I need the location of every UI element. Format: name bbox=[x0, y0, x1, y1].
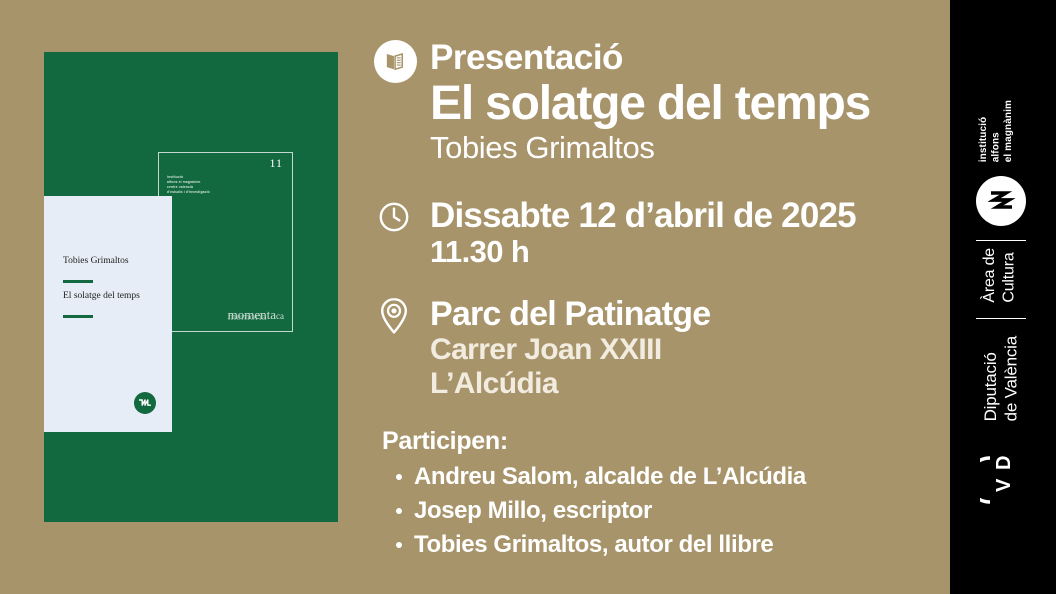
area-de-cultura-label: Àrea de Cultura bbox=[980, 248, 1019, 303]
book-panel-rule-top bbox=[63, 280, 93, 283]
list-item: Josep Millo, escriptor bbox=[382, 494, 934, 528]
presentation-icon-slot bbox=[374, 40, 430, 83]
poster-canvas: 11 institució alfons el magnànim centre … bbox=[0, 0, 1056, 594]
sponsor-sidebar: institució alfons el magnànim Àrea de Cu… bbox=[950, 0, 1056, 594]
diputacio-dv-logo: D V bbox=[980, 452, 1028, 514]
book-cover-background: 11 institució alfons el magnànim centre … bbox=[44, 52, 338, 522]
clock-icon bbox=[374, 197, 414, 237]
book-panel-title: El solatge del temps bbox=[63, 291, 140, 301]
participants-block: Participen: Andreu Salom, alcalde de L’A… bbox=[374, 427, 934, 562]
collection-logo-suffix: ca bbox=[276, 311, 284, 321]
publisher-logo-icon bbox=[134, 392, 156, 414]
event-town: L’Alcúdia bbox=[430, 367, 934, 401]
date-block: Dissabte 12 d’abril de 2025 11.30 h bbox=[374, 197, 934, 270]
book-panel-author: Tobies Grimaltos bbox=[63, 256, 129, 266]
participants-list: Andreu Salom, alcalde de L’Alcúdia Josep… bbox=[382, 460, 934, 562]
svg-text:V: V bbox=[993, 478, 1015, 492]
diputacio-label: Diputació de València bbox=[981, 336, 1022, 421]
magnanim-name: institució alfons el magnànim bbox=[978, 100, 1016, 162]
list-item: Andreu Salom, alcalde de L’Alcúdia bbox=[382, 460, 934, 494]
date-icon-slot bbox=[374, 197, 430, 237]
open-book-icon bbox=[374, 40, 417, 83]
book-collection-logo: momentaca memòria bbox=[228, 308, 284, 321]
magnanim-zigzag-logo bbox=[976, 176, 1026, 226]
book-title-panel: Tobies Grimaltos El solatge del temps bbox=[44, 196, 172, 432]
presentation-block: Presentació El solatge del temps Tobies … bbox=[374, 40, 934, 165]
presentation-text: Presentació El solatge del temps Tobies … bbox=[430, 40, 934, 165]
place-text: Parc del Patinatge Carrer Joan XXIII L’A… bbox=[430, 296, 934, 401]
book-cover-image: 11 institució alfons el magnànim centre … bbox=[44, 52, 338, 522]
map-pin-icon bbox=[374, 296, 414, 336]
sidebar-divider-bottom bbox=[976, 318, 1026, 319]
date-text: Dissabte 12 d’abril de 2025 11.30 h bbox=[430, 197, 934, 270]
participants-label: Participen: bbox=[382, 427, 934, 456]
event-details: Presentació El solatge del temps Tobies … bbox=[374, 40, 934, 562]
book-panel-rule-bottom bbox=[63, 315, 93, 318]
event-street: Carrer Joan XXIII bbox=[430, 333, 934, 367]
event-title: El solatge del temps bbox=[430, 79, 934, 130]
event-time: 11.30 h bbox=[430, 235, 934, 270]
event-venue: Parc del Patinatge bbox=[430, 296, 934, 333]
sidebar-divider-top bbox=[976, 240, 1026, 241]
event-author: Tobies Grimaltos bbox=[430, 131, 934, 166]
book-institution-text: institució alfons el magnànim centre val… bbox=[167, 175, 210, 195]
book-issue-number: 11 bbox=[269, 156, 283, 171]
collection-logo-sub: memòria bbox=[228, 312, 267, 323]
place-icon-slot bbox=[374, 296, 430, 336]
book-cover-frame: 11 institució alfons el magnànim centre … bbox=[158, 152, 293, 332]
place-block: Parc del Patinatge Carrer Joan XXIII L’A… bbox=[374, 296, 934, 401]
event-date: Dissabte 12 d’abril de 2025 bbox=[430, 197, 934, 235]
event-kicker: Presentació bbox=[430, 40, 934, 77]
svg-text:D: D bbox=[993, 456, 1015, 470]
list-item: Tobies Grimaltos, autor del llibre bbox=[382, 528, 934, 562]
